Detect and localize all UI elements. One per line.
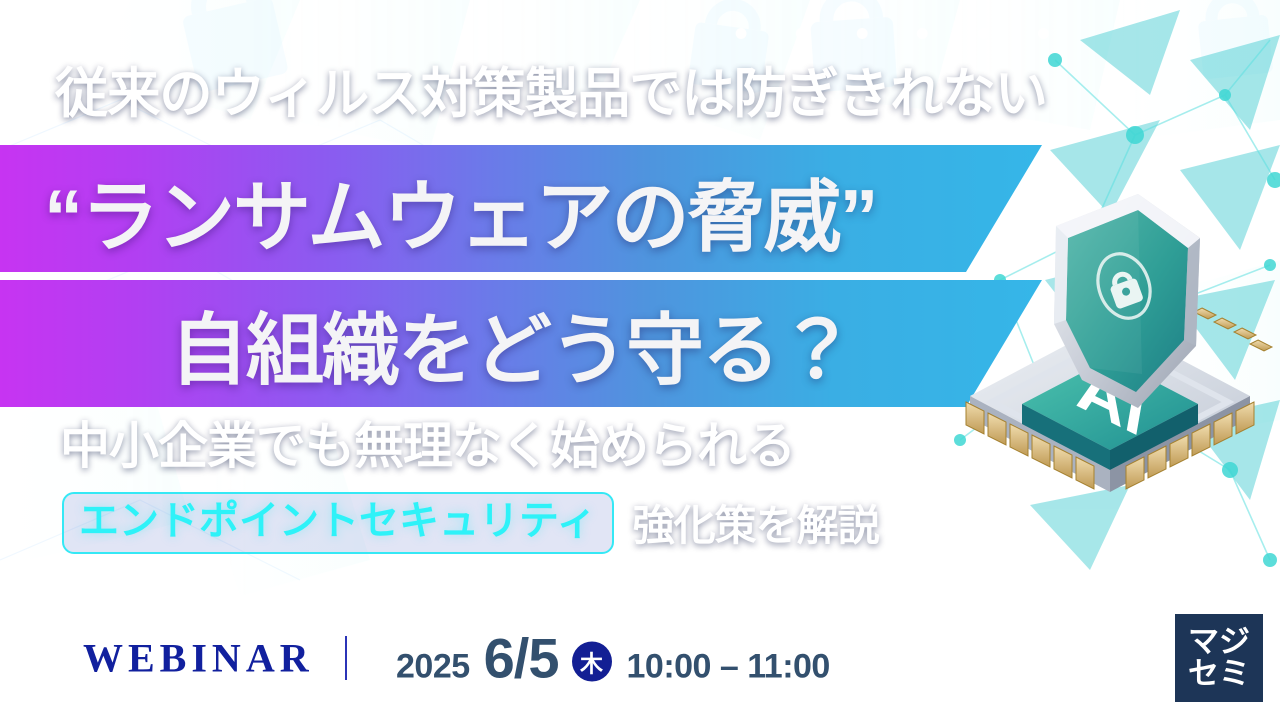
event-day-of-week-badge: 木 (572, 641, 612, 681)
event-time: 10:00 – 11:00 (627, 648, 830, 687)
event-year: 2025 (396, 648, 470, 687)
logo-line-1: マジ (1188, 626, 1250, 658)
headline-line-1: 従来のウィルス対策製品では防ぎきれない (55, 49, 1047, 128)
endpoint-security-chip: エンドポイントセキュリティ (62, 492, 614, 554)
headline-slab-1-text: “ランサムウェアの脅威” (44, 155, 876, 267)
headline-line-1-prefix: 従来のウィルス対策製品では (55, 64, 734, 124)
headline-line-4: 中小企業でも無理なく始められる (60, 406, 795, 478)
majisemi-logo[interactable]: マジ セミ (1175, 614, 1263, 702)
shield-on-ai-chip-illustration: AI (940, 170, 1280, 515)
footer-divider (345, 636, 347, 680)
footer-bar: WEBINAR 2025 6/5 木 10:00 – 11:00 マジ セミ (0, 596, 1280, 720)
event-datetime: 2025 6/5 木 10:00 – 11:00 (396, 626, 830, 691)
headline-line-5: エンドポイントセキュリティ 強化策を解説 (62, 492, 879, 554)
headline-line-1-emphasis: 防ぎきれない (734, 64, 1047, 124)
webinar-label: WEBINAR (83, 635, 314, 682)
logo-line-2: セミ (1188, 658, 1250, 690)
webinar-banner: 従来のウィルス対策製品では防ぎきれない “ランサムウェアの脅威” 自組織をどう守… (0, 0, 1280, 720)
event-month-day: 6/5 (484, 626, 559, 691)
headline-line-5-after: 強化策を解説 (633, 492, 879, 553)
hero-section: 従来のウィルス対策製品では防ぎきれない “ランサムウェアの脅威” 自組織をどう守… (0, 0, 1280, 596)
headline-line-1-emphasis-wrap: 防ぎきれない (734, 49, 1047, 128)
headline-slab-2-text: 自組織をどう守る？ (170, 288, 854, 400)
